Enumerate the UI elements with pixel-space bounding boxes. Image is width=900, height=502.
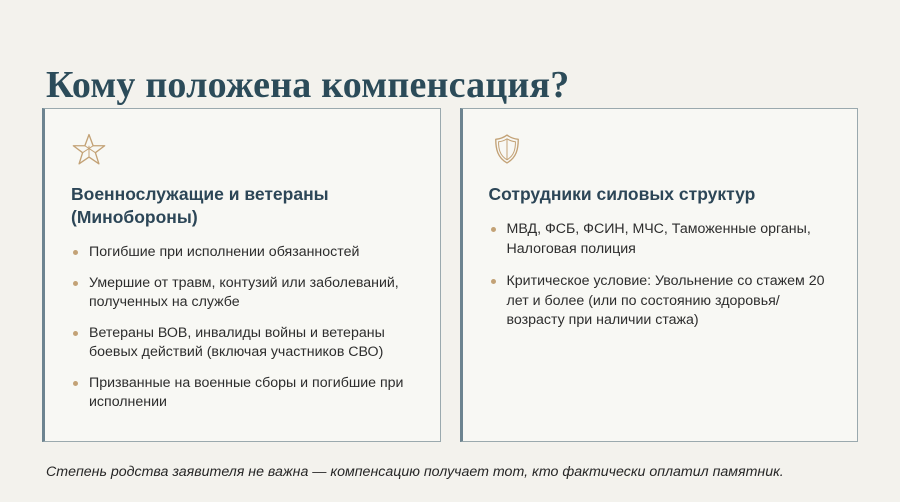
list-item-text: Критическое условие: Увольнение со стаже…: [507, 273, 825, 328]
bullet-list: Погибшие при исполнении обязанностей Уме…: [71, 243, 414, 413]
list-item: Погибшие при исполнении обязанностей: [71, 243, 414, 263]
list-item-text: Призванные на военные сборы и погибшие п…: [89, 375, 403, 411]
list-item: Критическое условие: Увольнение со стаже…: [489, 272, 832, 331]
bullet-dot-icon: [73, 250, 78, 255]
bullet-list: МВД, ФСБ, ФСИН, МЧС, Таможенные органы, …: [489, 220, 832, 331]
star-icon: [71, 131, 107, 167]
page-title: Кому положена компенсация?: [46, 63, 570, 107]
slide-root: Кому положена компенсация? Военнослужащи…: [0, 0, 900, 502]
bullet-dot-icon: [73, 281, 78, 286]
card-heading: Военнослужащие и ветераны (Минобороны): [71, 183, 401, 229]
list-item: Умершие от травм, контузий или заболеван…: [71, 274, 414, 313]
bullet-dot-icon: [491, 279, 496, 284]
list-item-text: Погибшие при исполнении обязанностей: [89, 244, 359, 260]
list-item-text: МВД, ФСБ, ФСИН, МЧС, Таможенные органы, …: [507, 221, 811, 257]
footer-note: Степень родства заявителя не важна — ком…: [46, 462, 784, 482]
shield-icon: [489, 131, 525, 167]
list-item: МВД, ФСБ, ФСИН, МЧС, Таможенные органы, …: [489, 220, 832, 259]
list-item-text: Умершие от травм, контузий или заболеван…: [89, 275, 399, 311]
cards-container: Военнослужащие и ветераны (Минобороны) П…: [42, 108, 858, 442]
list-item: Ветераны ВОВ, инвалиды войны и ветераны …: [71, 324, 414, 363]
card-law-enforcement: Сотрудники силовых структур МВД, ФСБ, ФС…: [460, 108, 859, 442]
list-item-text: Ветераны ВОВ, инвалиды войны и ветераны …: [89, 325, 385, 361]
bullet-dot-icon: [73, 331, 78, 336]
list-item: Призванные на военные сборы и погибшие п…: [71, 374, 414, 413]
card-military: Военнослужащие и ветераны (Минобороны) П…: [42, 108, 441, 442]
card-heading: Сотрудники силовых структур: [489, 183, 819, 206]
bullet-dot-icon: [73, 381, 78, 386]
bullet-dot-icon: [491, 227, 496, 232]
